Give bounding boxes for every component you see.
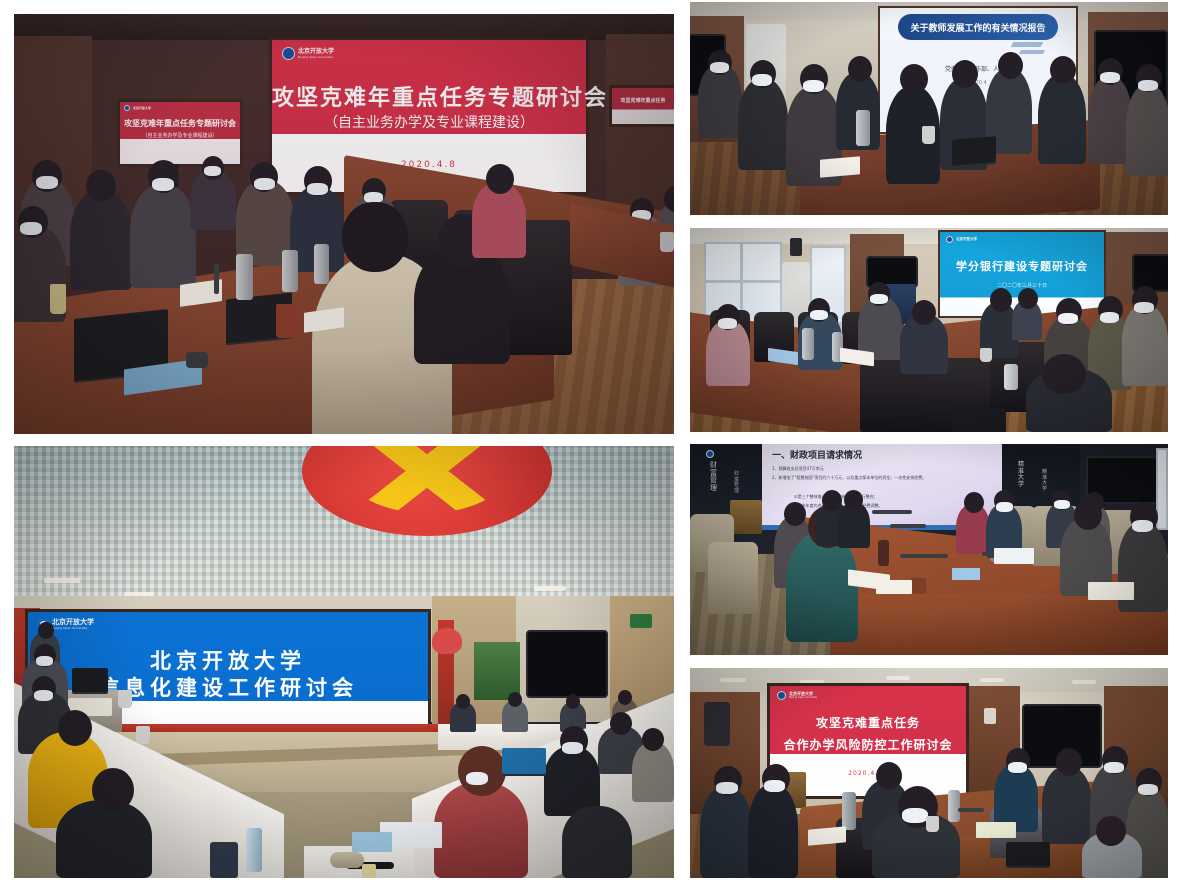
logo-mark-icon xyxy=(777,691,786,700)
photo-collage: 北京开放大学 Beijing Open University 攻坚克难年重点任务… xyxy=(0,0,1182,887)
logo-name-cn: 北京开放大学 xyxy=(52,619,94,626)
face-mask xyxy=(36,176,58,189)
photo-top-left: 北京开放大学 Beijing Open University 攻坚克难年重点任务… xyxy=(14,14,674,434)
photo-bottom-left: 北京开放大学 Beijing Open University 北京开放大学 信息… xyxy=(14,446,674,878)
photo-bottom-right: 北京开放大学 Beijing Open University 攻坚克难重点任务 … xyxy=(690,668,1168,878)
photo-right-3: 一、财政项目请求情况 1、预算收支总项目47万余元 2、新增加了"智慧校园"项目… xyxy=(690,444,1168,655)
photo-right-1: 关于教师发展工作的有关情况报告 党委教师工作部、人事处 2020.4 xyxy=(690,2,1168,215)
screen-title-line1: 攻坚克难重点任务 xyxy=(770,714,966,731)
photo-right-2: 北京开放大学 学分银行建设专题研讨会 二〇二〇年三月三十日 xyxy=(690,228,1168,432)
logo-name-cn: 北京开放大学 xyxy=(298,49,334,55)
vertical-banner-text: 财富管理 xyxy=(710,462,719,493)
logo-mark-icon xyxy=(124,105,130,111)
logo-name-en: Beijing Open University xyxy=(52,627,94,630)
podium xyxy=(730,500,762,534)
side-monitor: 北京开放大学 攻坚克难年重点任务专题研讨会 （自主业务办学及专业课程建设） xyxy=(120,102,240,164)
university-logo: 北京开放大学 xyxy=(946,236,977,243)
side-monitor-title: 攻坚克难年重点任务专题研讨会 xyxy=(120,118,240,129)
slide-bullet: 2、新增加了"智慧校园"项目约六十万元，以及重点保本单位的资金；一次性安排经费。 xyxy=(772,475,1000,481)
side-monitor-right-title: 攻坚克难年重点任务 xyxy=(612,97,674,104)
screen-title: 学分银行建设专题研讨会 xyxy=(940,258,1104,274)
screen-title: 关于教师发展工作的有关情况报告 xyxy=(880,21,1076,34)
screen-title: 攻坚克难年重点任务专题研讨会 xyxy=(272,80,586,112)
slide-heading: 一、财政项目请求情况 xyxy=(772,448,862,461)
side-monitor-right: 攻坚克难年重点任务 xyxy=(612,88,674,124)
logo-name-cn: 北京开放大学 xyxy=(133,106,151,110)
participant-red-coat xyxy=(434,782,528,878)
university-logo: 北京开放大学 Beijing Open University xyxy=(282,47,334,60)
logo-name-cn: 北京开放大学 xyxy=(956,237,977,242)
vertical-banner-text: 精准大学 xyxy=(1018,462,1027,488)
thermos-flask xyxy=(236,254,253,300)
slide-bullet: 1、预算收支总项目47万余元 xyxy=(772,466,824,472)
logo-mark-icon xyxy=(706,450,714,458)
logo-mark-icon xyxy=(282,47,295,60)
logo-name-en: Beijing Open University xyxy=(298,56,334,59)
screen-date: 二〇二〇年三月三十日 xyxy=(940,282,1104,289)
wall-tv xyxy=(528,632,606,696)
drink-cup xyxy=(276,304,298,338)
screen-title-line2: 合作办学风险防控工作研讨会 xyxy=(770,736,966,753)
logo-name-en: Beijing Open University xyxy=(789,697,817,699)
participant-floral xyxy=(786,532,858,642)
screen-subtitle: （自主业务办学及专业课程建设） xyxy=(272,112,586,132)
university-logo: 北京开放大学 Beijing Open University xyxy=(777,691,817,700)
side-monitor-subtitle: （自主业务办学及专业课程建设） xyxy=(120,132,240,139)
logo-mark-icon xyxy=(946,236,953,243)
